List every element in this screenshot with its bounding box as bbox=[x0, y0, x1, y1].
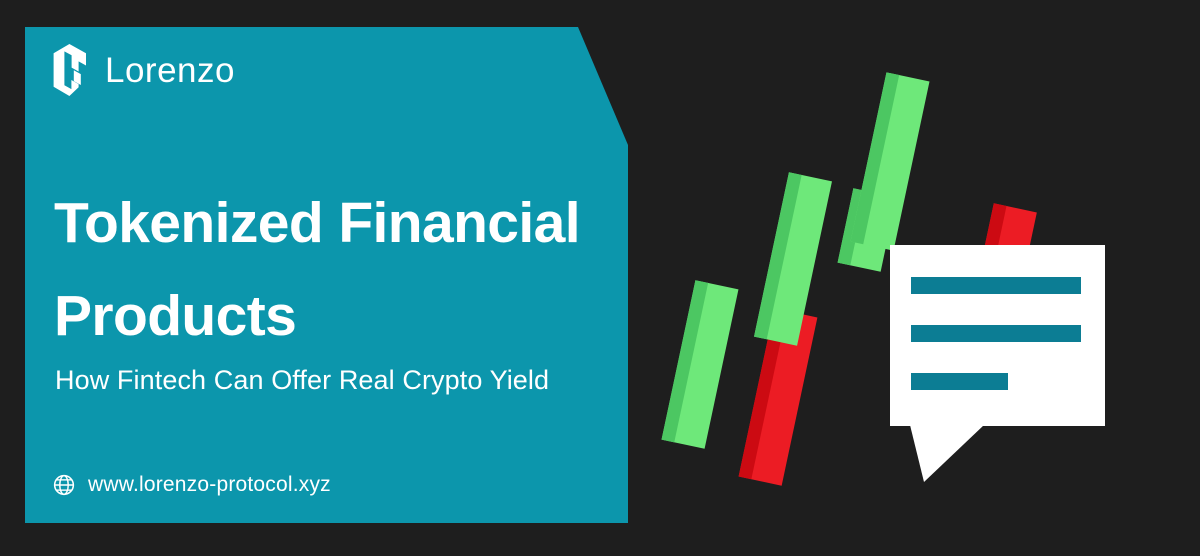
website-url[interactable]: www.lorenzo-protocol.xyz bbox=[53, 473, 331, 497]
bubble-text-line bbox=[911, 325, 1081, 342]
lorenzo-glyph-icon bbox=[52, 44, 88, 96]
candlestick-bar bbox=[754, 172, 832, 345]
candlestick-illustration bbox=[640, 0, 1200, 556]
bubble-text-line bbox=[911, 373, 1008, 390]
page-title: Tokenized Financial Products bbox=[54, 177, 614, 363]
brand-logo[interactable]: Lorenzo bbox=[52, 44, 235, 96]
globe-icon bbox=[53, 474, 75, 496]
brand-name: Lorenzo bbox=[105, 53, 235, 88]
page-subtitle: How Fintech Can Offer Real Crypto Yield bbox=[55, 357, 575, 403]
website-url-text: www.lorenzo-protocol.xyz bbox=[88, 473, 331, 497]
bubble-text-line bbox=[911, 277, 1081, 294]
candlestick-bar bbox=[850, 72, 929, 250]
banner-canvas: Lorenzo Tokenized Financial Products How… bbox=[0, 0, 1200, 556]
speech-bubble-tail bbox=[910, 425, 984, 482]
hero-panel: Lorenzo Tokenized Financial Products How… bbox=[25, 27, 628, 523]
speech-bubble bbox=[890, 245, 1105, 426]
candlestick-bar bbox=[662, 280, 739, 449]
